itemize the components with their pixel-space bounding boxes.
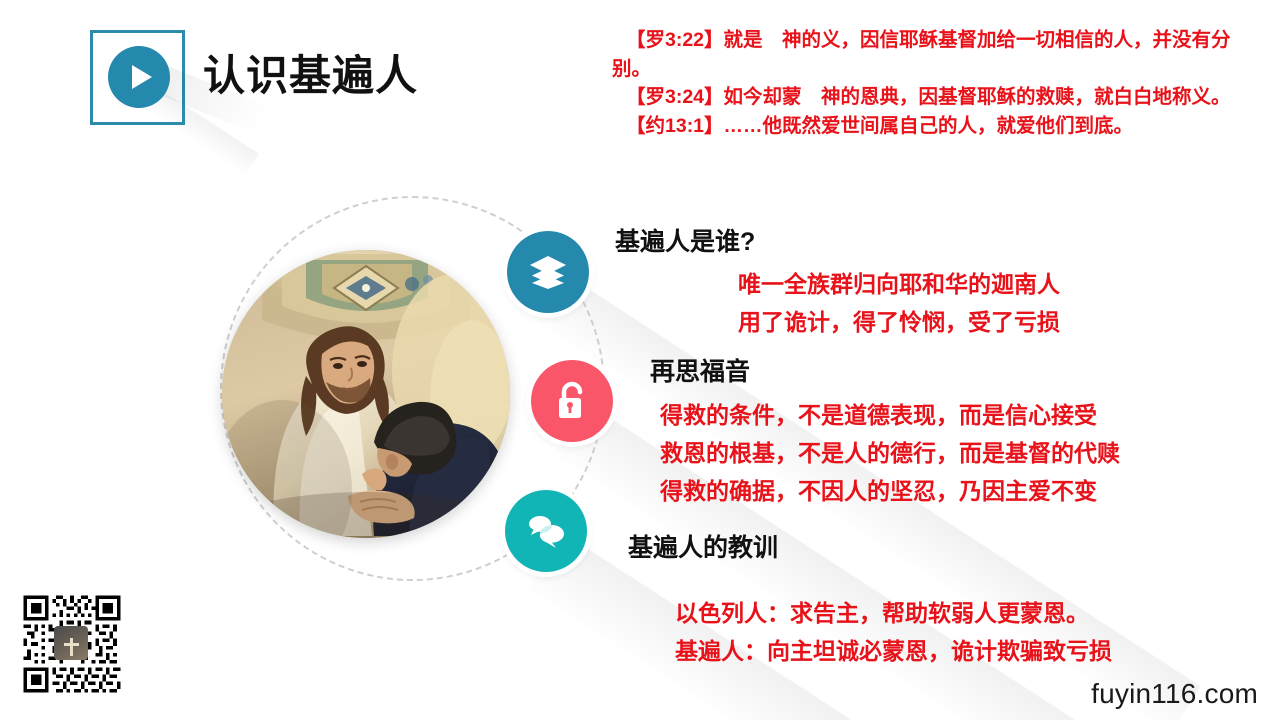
section-line: 救恩的根基，不是人的德行，而是基督的代赎 (660, 435, 1120, 473)
unlocked-padlock-icon[interactable] (531, 360, 613, 442)
scripture-verse: 【罗3:24】如今却蒙 神的恩典，因基督耶稣的救赎，就白白地称义。 (612, 83, 1260, 112)
section-heading: 基遍人是谁? (615, 222, 755, 258)
scripture-block: 【罗3:22】就是 神的义，因信耶稣基督加给一切相信的人，并没有分别。 【罗3:… (612, 26, 1260, 141)
section-line: 基遍人：向主坦诚必蒙恩，诡计欺骗致亏损 (675, 633, 1112, 671)
section-line: 得救的确据，不因人的坚忍，乃因主爱不变 (660, 473, 1120, 511)
section-body: 以色列人：求告主，帮助软弱人更蒙恩。 基遍人：向主坦诚必蒙恩，诡计欺骗致亏损 (675, 595, 1112, 671)
section-heading: 基遍人的教训 (628, 528, 778, 564)
speech-bubbles-icon[interactable] (505, 490, 587, 572)
scripture-verse: 【罗3:22】就是 神的义，因信耶稣基督加给一切相信的人，并没有分别。 (612, 26, 1260, 83)
layers-stack-icon[interactable] (507, 231, 589, 313)
page-title: 认识基遍人 (203, 42, 418, 103)
qr-center-cross-icon (54, 626, 88, 660)
section-line: 用了诡计，得了怜悯，受了亏损 (738, 304, 1238, 342)
scripture-verse: 【约13:1】……他既然爱世间属自己的人，就爱他们到底。 (612, 112, 1260, 141)
section-line: 得救的条件，不是道德表现，而是信心接受 (660, 397, 1120, 435)
jesus-embracing-man-image (222, 250, 510, 538)
section-body: 唯一全族群归向耶和华的迦南人 用了诡计，得了怜悯，受了亏损 (618, 266, 1238, 342)
section-line: 唯一全族群归向耶和华的迦南人 (738, 266, 1238, 304)
play-triangle-icon (132, 65, 152, 89)
play-button-icon[interactable] (108, 46, 170, 108)
section-body: 得救的条件，不是道德表现，而是信心接受 救恩的根基，不是人的德行，而是基督的代赎… (660, 397, 1120, 511)
slide-canvas: 认识基遍人 【罗3:22】就是 神的义，因信耶稣基督加给一切相信的人，并没有分别… (0, 0, 1280, 720)
section-line: 以色列人：求告主，帮助软弱人更蒙恩。 (675, 595, 1112, 633)
website-label: fuyin116.com (1091, 678, 1258, 710)
section-heading: 再思福音 (650, 352, 750, 388)
